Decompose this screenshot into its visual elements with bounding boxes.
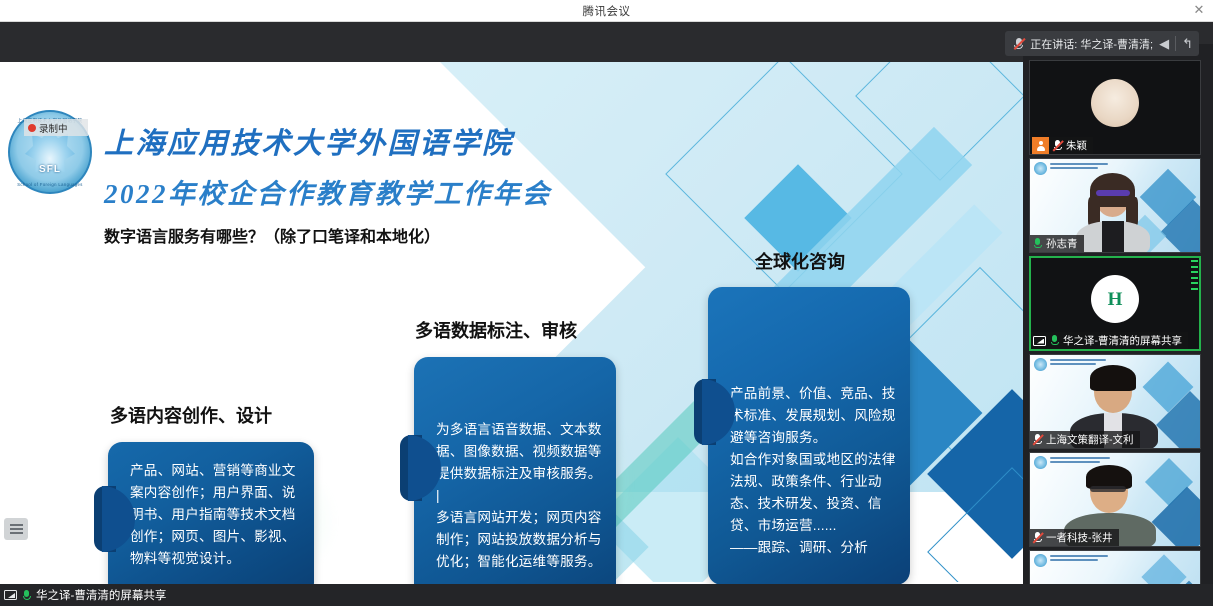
slide-title-line2: 2022年校企合作教育教学工作年会 [104,172,552,211]
screen-share-icon [4,590,17,600]
mic-on-icon [1032,237,1043,250]
column-1-body: 产品、网站、营销等商业文案内容创作；用户界面、说明书、用户指南等技术文档创作；网… [130,463,296,566]
participant-tile[interactable]: 上海文策翻译-文利 [1029,354,1201,449]
column-2-card-tab-icon [400,435,422,501]
recording-badge: 录制中 [24,119,88,136]
record-dot-icon [28,124,36,132]
column-1-card: 产品、网站、营销等商业文案内容创作；用户界面、说明书、用户指南等技术文档创作；网… [108,442,314,597]
toast-divider [1175,36,1176,51]
tencent-meeting-window: 腾讯会议 ✕ [0,0,1213,606]
column-2-body: 为多语言语音数据、文本数据、图像数据、视频数据等提供数据标注及审核服务。 | 多… [436,422,602,569]
host-badge-icon [1032,137,1049,154]
slide-thumbnail-header [1034,554,1108,567]
screen-share-statusbar: 华之译-曹清清的屏幕共享 [0,584,1213,606]
company-logo-icon: H [1108,289,1123,311]
participant-label: 朱颖 [1030,137,1093,154]
participant-tile[interactable]: 朱颖 [1029,60,1201,155]
slide-question: 数字语言服务有哪些？（除了口笔译和本地化） [104,223,440,247]
logo-ring-bottom-text: School of Foreign Languages [10,182,90,187]
column-3-heading: 全球化咨询 [755,248,845,274]
mic-on-icon [1049,334,1060,347]
mic-muted-icon [1052,139,1063,152]
status-text: 华之译-曹清清的屏幕共享 [36,587,166,603]
mic-on-icon [21,589,32,602]
mic-muted-icon [1032,433,1043,446]
audio-level-indicator [1191,260,1198,290]
participant-tile[interactable]: 孙志青 [1029,158,1201,253]
logo-abbr: SFL [10,164,90,175]
participant-name: 孙志青 [1046,236,1078,251]
column-1-card-tab-icon [94,486,116,552]
participant-filmstrip[interactable]: 朱颖 [1023,44,1213,606]
column-3-body: 产品前景、价值、竞品、技术标准、发展规划、风险规避等咨询服务。 如合作对象国或地… [730,386,896,555]
column-2-card: 为多语言语音数据、文本数据、图像数据、视频数据等提供数据标注及审核服务。 | 多… [414,357,616,603]
mic-muted-icon [1032,531,1043,544]
meeting-stage: 上海应用技术大学外国语学院 SFL School of Foreign Lang… [0,22,1213,584]
slide-thumbnail-header [1034,162,1108,175]
mic-muted-icon [1013,37,1024,51]
column-3-card: 产品前景、价值、竞品、技术标准、发展规划、风险规避等咨询服务。 如合作对象国或地… [708,287,910,585]
slide-title-line1: 上海应用技术大学外国语学院 [104,120,514,162]
speaking-toast: 正在讲话: 华之译-曹清清; ◀ ↰ [1005,31,1199,56]
list-menu-icon [10,528,23,530]
panel-toggle-button[interactable] [4,518,28,540]
avatar [1091,79,1139,127]
speaking-label: 正在讲话: 华之译-曹清清; [1030,36,1153,52]
screen-share-icon [1033,336,1046,346]
participant-tile-active[interactable]: H 华之译-曹清清的屏幕共享 [1029,256,1201,351]
column-1-heading: 多语内容创作、设计 [110,402,272,428]
column-2-heading: 多语数据标注、审核 [415,317,577,343]
close-icon[interactable]: ✕ [1191,2,1207,18]
participant-name: 上海文策翻译-文利 [1046,432,1134,447]
participant-name: 朱颖 [1066,138,1087,153]
participant-label: 华之译-曹清清的屏幕共享 [1031,332,1188,349]
window-titlebar: 腾讯会议 ✕ [0,0,1213,22]
participant-label: 孙志青 [1030,235,1084,252]
recording-label: 录制中 [39,121,68,135]
collapse-strip-icon[interactable]: ◀ [1159,37,1169,50]
participant-tile[interactable]: 一者科技-张井 [1029,452,1201,547]
shared-screen-slide: 上海应用技术大学外国语学院 SFL School of Foreign Lang… [0,62,1028,606]
participant-name: 一者科技-张井 [1046,530,1113,545]
participant-name: 华之译-曹清清的屏幕共享 [1063,333,1182,348]
restore-window-icon[interactable]: ↰ [1182,37,1193,50]
participant-label: 上海文策翻译-文利 [1030,431,1140,448]
column-3-card-tab-icon [694,379,716,445]
participant-label: 一者科技-张井 [1030,529,1119,546]
window-title: 腾讯会议 [0,3,1213,19]
